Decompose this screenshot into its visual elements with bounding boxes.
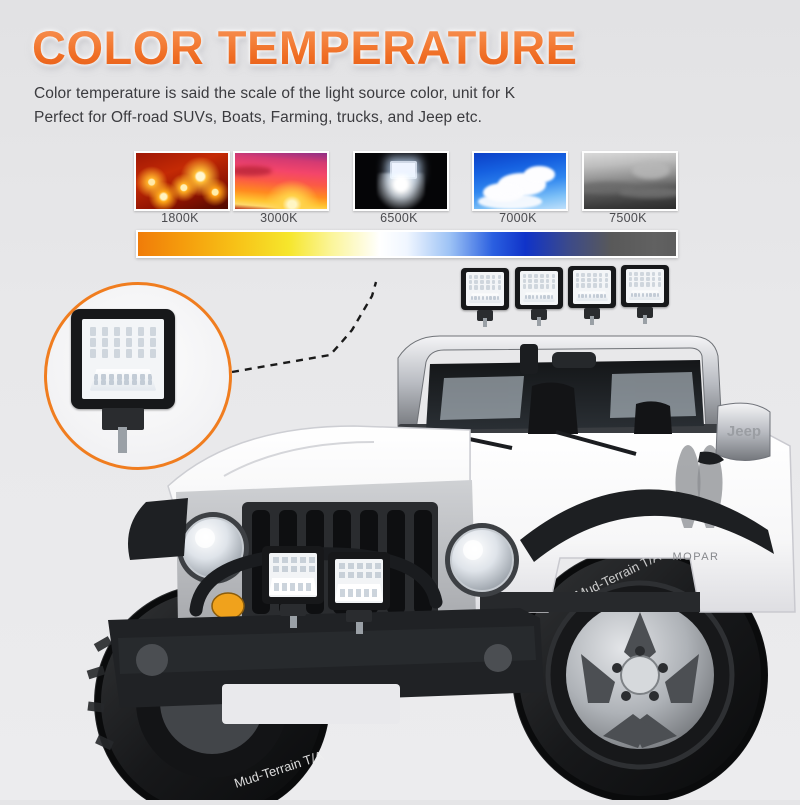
bumper-dring-left: [136, 644, 168, 676]
overcast-sky-image: [584, 153, 676, 209]
bumper-dring-right: [484, 644, 512, 672]
swatch-6500k: [353, 151, 449, 211]
subtitle-line-2: Perfect for Off-road SUVs, Boats, Farmin…: [34, 106, 634, 130]
swatch-1800k: [134, 151, 230, 211]
roof-light-1: [461, 268, 509, 310]
roof-light-4: [621, 265, 669, 307]
swatch-label-7500k: 7500K: [582, 211, 674, 225]
blue-sky-image: [474, 153, 566, 209]
headlight-right: [445, 523, 519, 597]
mopar-text: MOPAR: [672, 551, 719, 563]
temperature-swatch-row: 1800K 3000K 6500K 7000K 7500K: [0, 151, 800, 223]
jeep-svg: Mud-Terrain T/A Mud-Terrain T/A WARN: [0, 240, 800, 800]
led-beam-shape: [377, 173, 425, 209]
page-title: COLOR TEMPERATURE: [32, 24, 578, 71]
swatch-label-3000k: 3000K: [233, 211, 325, 225]
swatch-label-7000k: 7000K: [472, 211, 564, 225]
page-subtitle: Color temperature is said the scale of t…: [34, 82, 634, 130]
roof-light-3: [568, 266, 616, 308]
candles-image: [136, 153, 228, 209]
swatch-label-1800k: 1800K: [134, 211, 226, 225]
jeep-vehicle-photo: Mud-Terrain T/A Mud-Terrain T/A WARN: [0, 240, 800, 800]
swatch-7000k: [472, 151, 568, 211]
front-fender-flare: [128, 498, 188, 560]
turn-signal-left: [212, 593, 244, 619]
poster-canvas: COLOR TEMPERATURE Color temperature is s…: [0, 0, 800, 800]
roof-light-2: [515, 267, 563, 309]
swatch-7500k: [582, 151, 678, 211]
led-light-image: [355, 153, 447, 209]
sunset-image: [235, 153, 327, 209]
license-plate: [222, 684, 400, 724]
mirror-jeep-text: Jeep: [727, 423, 761, 440]
subtitle-line-1: Color temperature is said the scale of t…: [34, 82, 634, 106]
swatch-3000k: [233, 151, 329, 211]
swatch-label-6500k: 6500K: [353, 211, 445, 225]
